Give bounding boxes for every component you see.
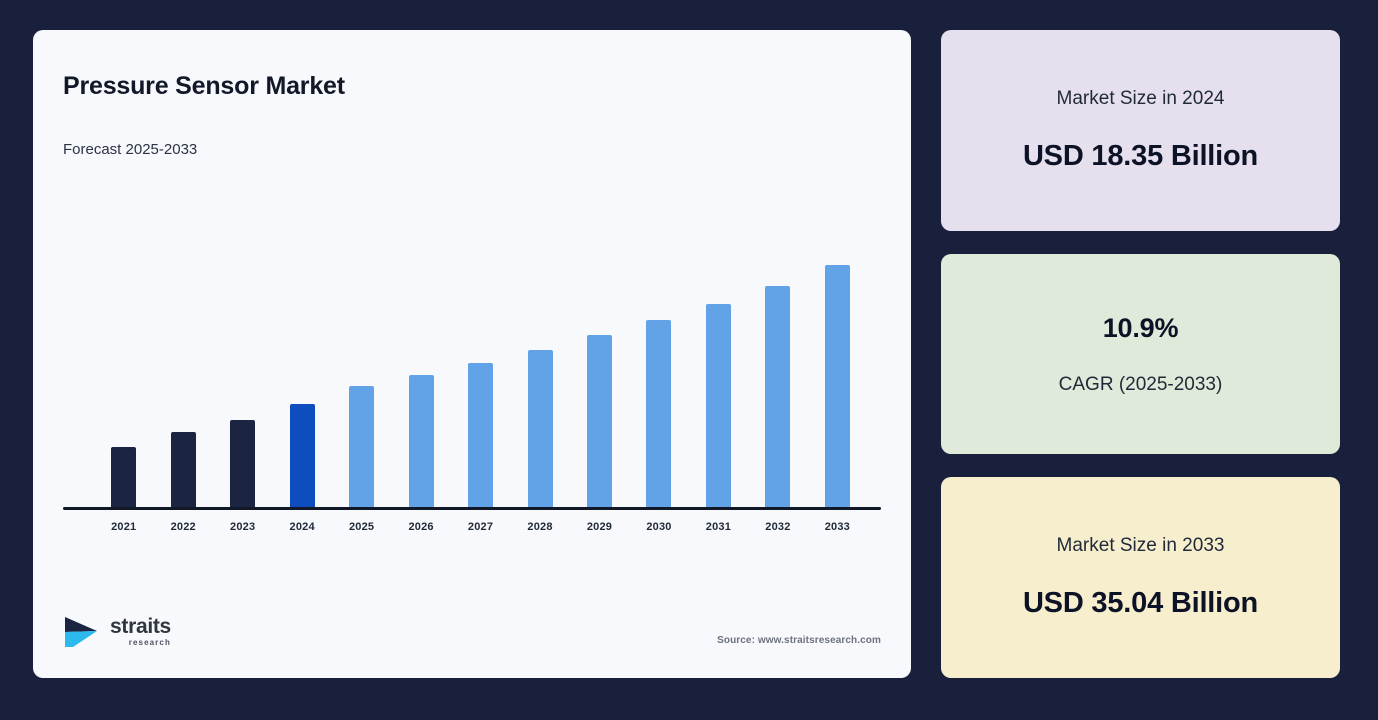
stat-card-list: Market Size in 2024USD 18.35 Billion10.9… — [941, 30, 1340, 678]
stat-value-market-size-2033: USD 35.04 Billion — [1023, 587, 1258, 620]
bar-slot-2032 — [748, 180, 807, 510]
bar-slot-2031 — [689, 180, 748, 510]
stat-card-market-size-2024: Market Size in 2024USD 18.35 Billion — [941, 30, 1340, 231]
x-tick-2026: 2026 — [391, 521, 450, 533]
bar-2022 — [171, 432, 196, 510]
bar-chart: 2021202220232024202520262027202820292030… — [63, 180, 881, 510]
x-tick-2033: 2033 — [808, 521, 867, 533]
bar-slot-2024 — [272, 180, 331, 510]
infographic-root: Pressure Sensor Market Forecast 2025-203… — [0, 0, 1378, 720]
bar-2028 — [528, 350, 553, 510]
bar-2029 — [587, 335, 612, 510]
bar-slot-2025 — [332, 180, 391, 510]
stat-card-market-size-2033: Market Size in 2033USD 35.04 Billion — [941, 477, 1340, 678]
stat-label-market-size-2024: Market Size in 2024 — [1057, 88, 1225, 110]
logo-word: straits — [110, 616, 171, 637]
stat-label-market-size-2033: Market Size in 2033 — [1057, 535, 1225, 557]
bar-slot-2022 — [153, 180, 212, 510]
bar-slot-2033 — [808, 180, 867, 510]
page-title: Pressure Sensor Market — [63, 72, 881, 101]
bar-slot-2026 — [391, 180, 450, 510]
chart-footer: straits research Source: www.straitsrese… — [63, 613, 881, 650]
x-tick-2021: 2021 — [94, 521, 153, 533]
source-attribution: Source: www.straitsresearch.com — [717, 635, 881, 650]
bar-2024 — [290, 404, 315, 510]
stat-label-cagr: CAGR (2025-2033) — [1059, 374, 1223, 396]
x-tick-2022: 2022 — [153, 521, 212, 533]
bar-slot-2021 — [94, 180, 153, 510]
bar-2032 — [765, 286, 790, 510]
stat-value-cagr: 10.9% — [1103, 313, 1179, 344]
stat-card-cagr: 10.9%CAGR (2025-2033) — [941, 254, 1340, 455]
x-tick-2024: 2024 — [272, 521, 331, 533]
bar-2027 — [468, 363, 493, 510]
x-tick-2031: 2031 — [689, 521, 748, 533]
x-tick-2023: 2023 — [213, 521, 272, 533]
bar-2031 — [706, 304, 731, 510]
stat-value-market-size-2024: USD 18.35 Billion — [1023, 140, 1258, 173]
x-tick-2025: 2025 — [332, 521, 391, 533]
bar-2026 — [409, 375, 434, 510]
arrow-logo-icon — [63, 613, 103, 650]
bar-slot-2027 — [451, 180, 510, 510]
logo-subword: research — [129, 639, 171, 647]
bar-2025 — [349, 386, 374, 510]
bar-series — [94, 180, 867, 510]
bar-slot-2030 — [629, 180, 688, 510]
x-tick-2029: 2029 — [570, 521, 629, 533]
bar-slot-2023 — [213, 180, 272, 510]
bar-2030 — [646, 320, 671, 510]
x-tick-2030: 2030 — [629, 521, 688, 533]
straits-research-logo: straits research — [63, 613, 171, 650]
chart-subtitle: Forecast 2025-2033 — [63, 141, 881, 158]
x-tick-2028: 2028 — [510, 521, 569, 533]
x-axis-tick-labels: 2021202220232024202520262027202820292030… — [94, 521, 867, 533]
bar-2023 — [230, 420, 255, 510]
bar-slot-2028 — [510, 180, 569, 510]
bar-slot-2029 — [570, 180, 629, 510]
x-tick-2032: 2032 — [748, 521, 807, 533]
x-axis-line — [63, 507, 881, 510]
bar-2033 — [825, 265, 850, 510]
x-tick-2027: 2027 — [451, 521, 510, 533]
chart-panel: Pressure Sensor Market Forecast 2025-203… — [33, 30, 911, 678]
logo-wordmark: straits research — [110, 616, 171, 647]
bar-2021 — [111, 447, 136, 510]
